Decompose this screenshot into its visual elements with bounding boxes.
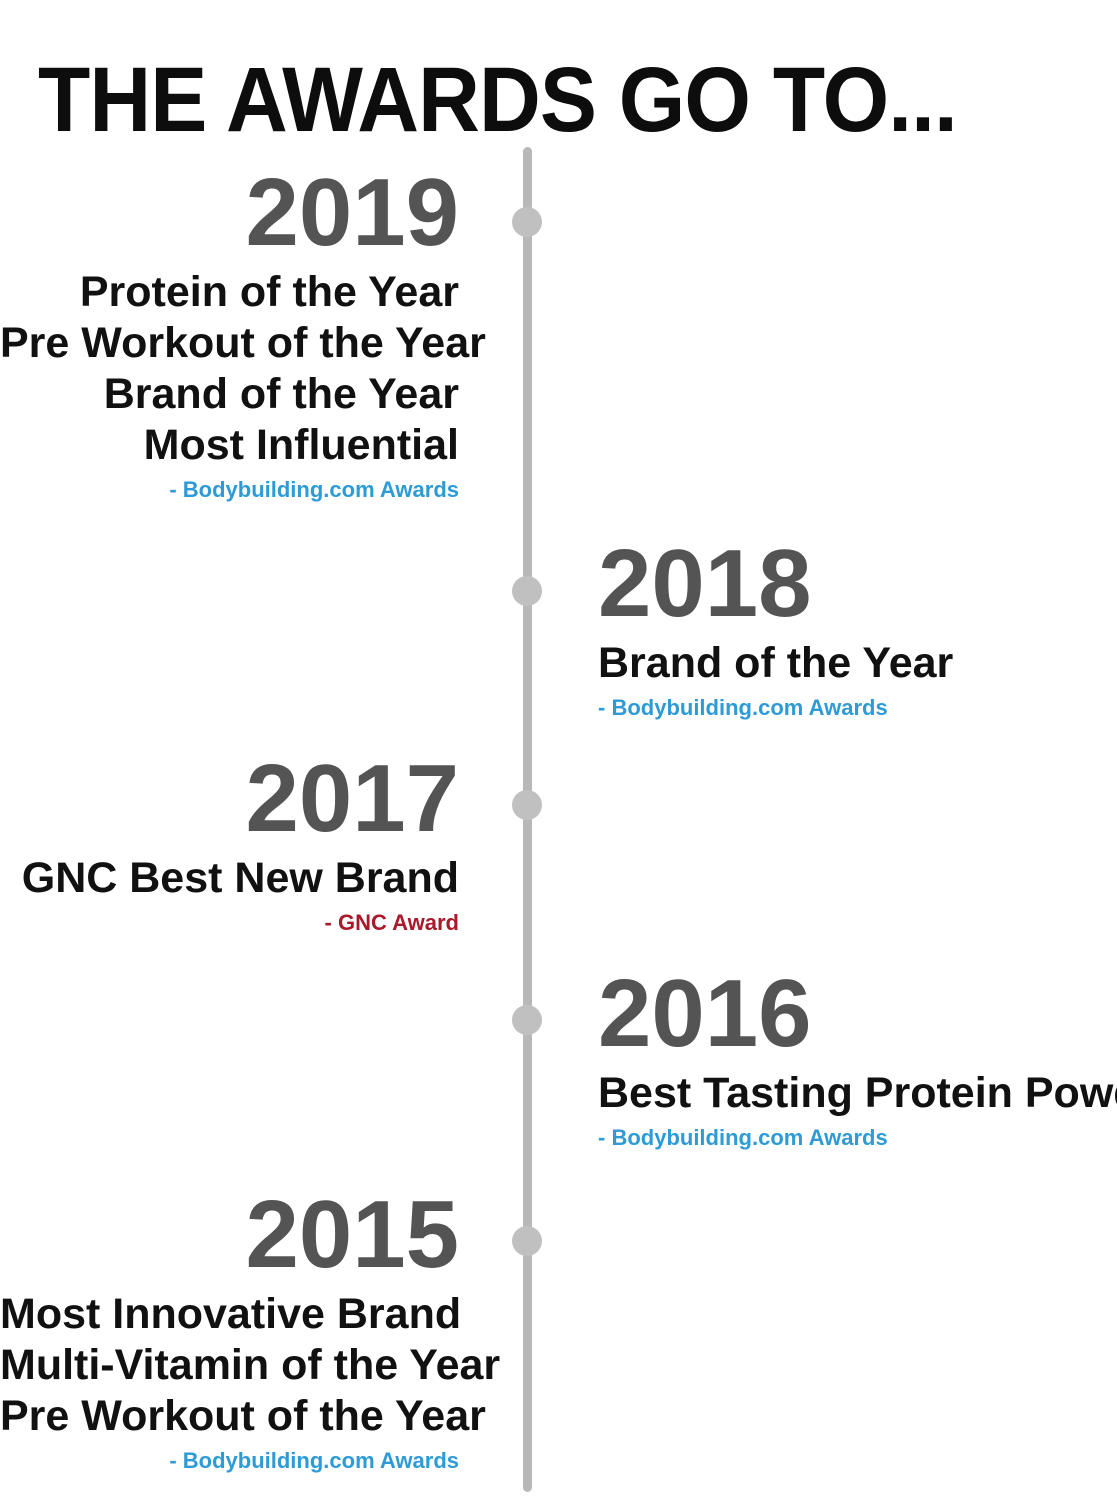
- award-line: Most Influential: [0, 420, 459, 471]
- page-title: THE AWARDS GO TO...: [38, 52, 957, 148]
- entry-source-attribution: - Bodybuilding.com Awards: [598, 1125, 1117, 1151]
- timeline-entry-2017: 2017GNC Best New Brand- GNC Award: [0, 749, 471, 936]
- entry-year-label: 2018: [598, 534, 1117, 634]
- timeline-entry-2015: 2015Most Innovative BrandMulti-Vitamin o…: [0, 1185, 471, 1474]
- entry-award-list: Brand of the Year: [598, 638, 1117, 689]
- award-line: Most Innovative Brand: [0, 1289, 459, 1340]
- entry-year-label: 2015: [0, 1185, 459, 1285]
- award-line: Protein of the Year: [0, 267, 459, 318]
- timeline-dot-2018: [512, 576, 542, 606]
- entry-source-attribution: - Bodybuilding.com Awards: [0, 477, 459, 503]
- award-line: Best Tasting Protein Powder: [598, 1068, 1117, 1119]
- award-line: GNC Best New Brand: [0, 853, 459, 904]
- award-line: Brand of the Year: [0, 369, 459, 420]
- timeline-dot-2019: [512, 207, 542, 237]
- entry-year-label: 2017: [0, 749, 459, 849]
- entry-award-list: Best Tasting Protein Powder: [598, 1068, 1117, 1119]
- timeline-dot-2017: [512, 790, 542, 820]
- entry-year-label: 2019: [0, 163, 459, 263]
- entry-award-list: Most Innovative BrandMulti-Vitamin of th…: [0, 1289, 459, 1442]
- award-line: Multi-Vitamin of the Year: [0, 1340, 459, 1391]
- award-line: Brand of the Year: [598, 638, 1117, 689]
- entry-source-attribution: - GNC Award: [0, 910, 459, 936]
- award-line: Pre Workout of the Year: [0, 318, 459, 369]
- timeline-entry-2018: 2018Brand of the Year- Bodybuilding.com …: [598, 534, 1117, 721]
- timeline-entry-2016: 2016Best Tasting Protein Powder- Bodybui…: [598, 964, 1117, 1151]
- entry-award-list: GNC Best New Brand: [0, 853, 459, 904]
- timeline-dot-2016: [512, 1005, 542, 1035]
- entry-year-label: 2016: [598, 964, 1117, 1064]
- entry-source-attribution: - Bodybuilding.com Awards: [598, 695, 1117, 721]
- entry-source-attribution: - Bodybuilding.com Awards: [0, 1448, 459, 1474]
- timeline-dot-2015: [512, 1226, 542, 1256]
- awards-timeline-infographic: THE AWARDS GO TO... 2019Protein of the Y…: [0, 0, 1117, 1500]
- timeline-entry-2019: 2019Protein of the YearPre Workout of th…: [0, 163, 471, 503]
- entry-award-list: Protein of the YearPre Workout of the Ye…: [0, 267, 459, 471]
- award-line: Pre Workout of the Year: [0, 1391, 459, 1442]
